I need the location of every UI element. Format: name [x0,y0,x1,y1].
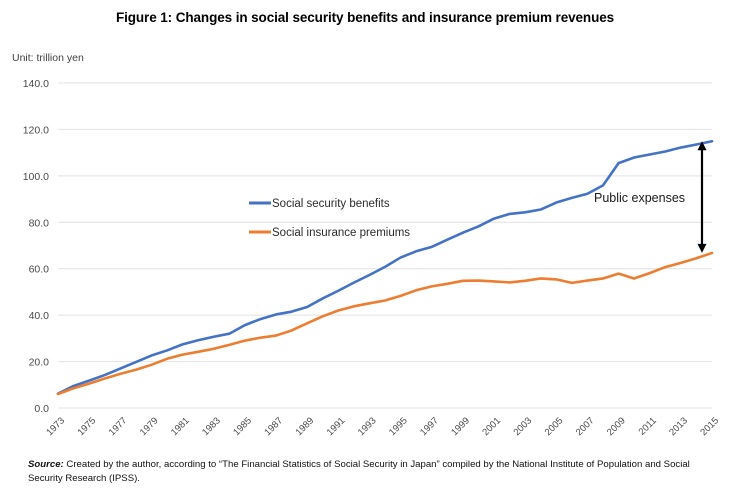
x-axis-tick-label: 2011 [637,415,659,437]
x-axis-tick-label: 1999 [449,415,472,438]
x-axis-tick-label: 1979 [138,415,161,438]
legend-label-premiums: Social insurance premiums [272,227,410,239]
source-note: Source: Created by the author, according… [28,458,708,486]
x-axis-tick-label: 2007 [574,415,597,438]
legend-label-benefits: Social security benefits [272,198,390,210]
y-axis-tick-label: 140.0 [23,78,49,90]
public-expenses-annotation: Public expenses [594,141,707,253]
line-chart: 0.020.040.060.080.0100.0120.0140.0 19731… [0,0,730,460]
y-axis-tick-label: 60.0 [29,264,50,276]
x-axis-tick-label: 2001 [480,415,503,438]
y-axis-tick-label: 80.0 [29,217,50,229]
x-axis-tick-label: 1995 [387,415,410,438]
series-line-premiums [58,253,712,394]
series-line-benefits [58,141,712,393]
x-axis-tick-label: 1989 [294,415,317,438]
y-axis-tick-label: 120.0 [23,124,49,136]
x-axis-tick-label: 1977 [107,415,130,438]
y-axis-tick-labels: 0.020.040.060.080.0100.0120.0140.0 [23,78,49,415]
x-axis-tick-label: 1991 [325,415,348,438]
x-axis-tick-label: 2013 [667,415,690,438]
x-axis-tick-label: 2005 [543,415,566,438]
y-axis-tick-label: 20.0 [29,357,50,369]
source-text: Created by the author, according to “The… [28,459,690,484]
x-axis-tick-labels: 1973197519771979198119831985198719891991… [44,415,721,438]
x-axis-tick-label: 1987 [262,415,285,438]
y-axis-tick-label: 100.0 [23,171,49,183]
x-axis-tick-label: 1973 [44,415,67,438]
annotation-label: Public expenses [594,191,685,205]
x-axis-tick-label: 1993 [356,415,379,438]
y-axis-tick-label: 0.0 [34,403,49,415]
arrow-head-down [698,244,707,253]
chart-canvas: 0.020.040.060.080.0100.0120.0140.0 19731… [0,0,730,460]
x-axis-tick-label: 2015 [698,415,721,438]
chart-legend: Social security benefitsSocial insurance… [249,198,410,239]
x-axis-tick-label: 1983 [200,415,223,438]
x-axis-tick-label: 1997 [418,415,441,438]
x-axis-tick-label: 2003 [512,415,535,438]
data-series [58,141,712,394]
x-axis-tick-label: 2009 [605,415,628,438]
y-axis-tick-label: 40.0 [29,310,50,322]
x-axis-tick-label: 1981 [169,415,192,438]
gridlines [58,83,712,408]
source-label: Source: [28,459,64,470]
x-axis-tick-label: 1985 [231,415,254,438]
x-axis-tick-label: 1975 [76,415,99,438]
